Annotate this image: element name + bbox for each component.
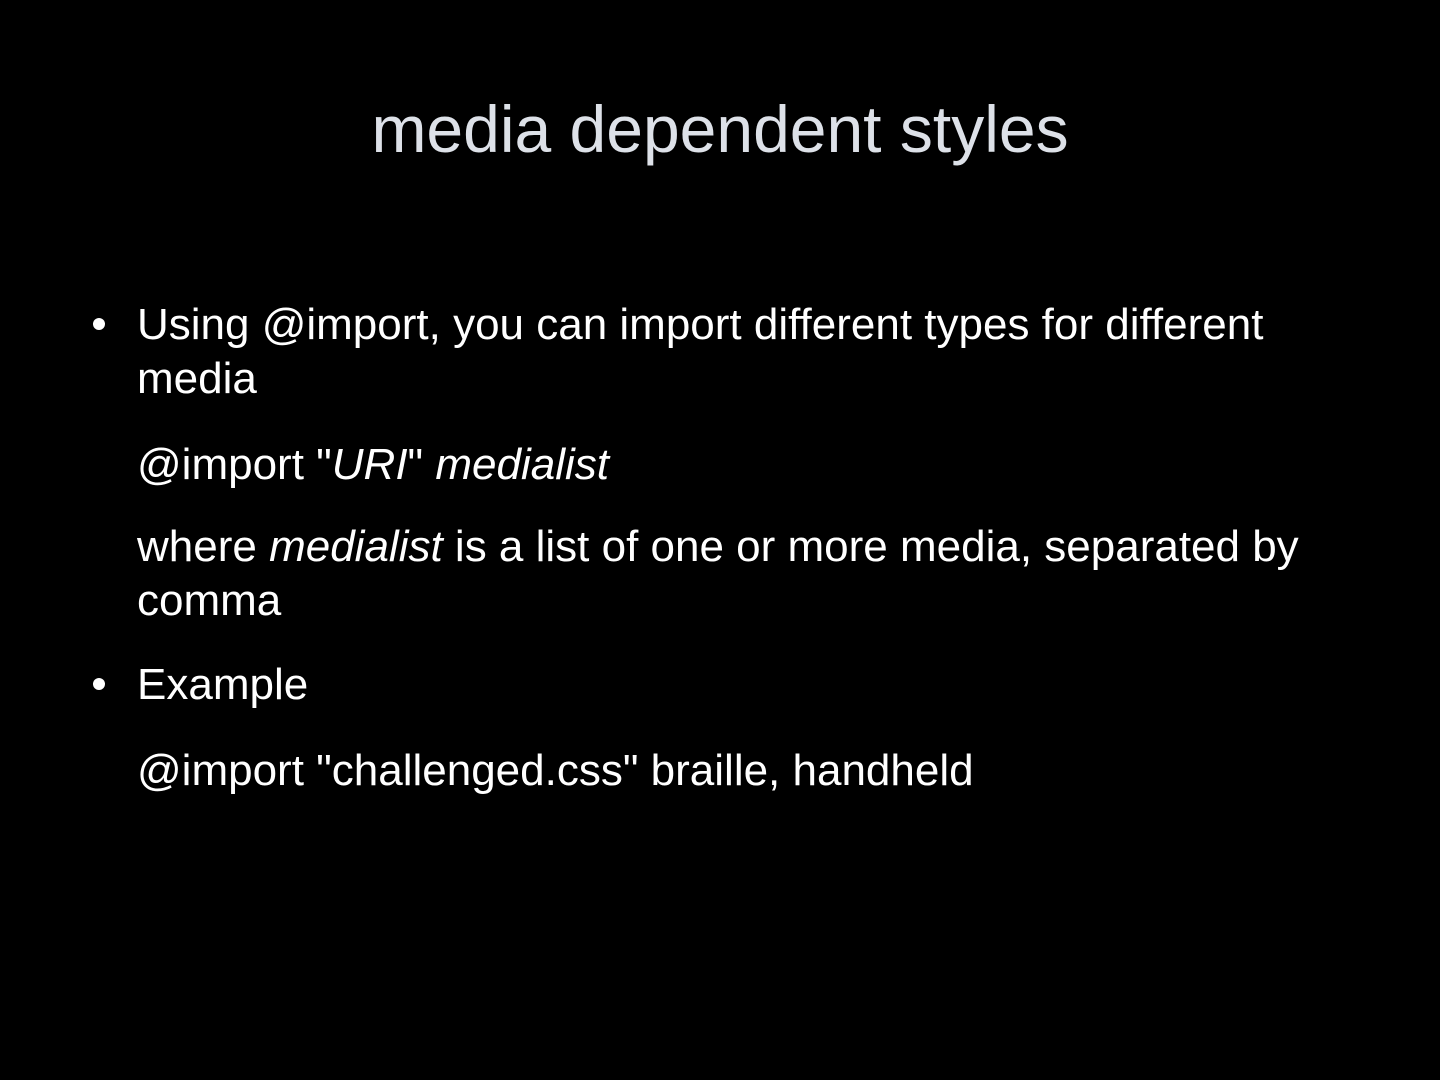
bullet-dot-icon	[93, 678, 105, 690]
bullet-item-example: Example	[88, 658, 1373, 712]
note-prefix: where	[137, 522, 269, 571]
code-text: @import "challenged.css" braille, handhe…	[137, 746, 974, 795]
spacer	[88, 492, 1373, 520]
spacer	[88, 406, 1373, 438]
code-line-import-uri: @import "URI" medialist	[88, 438, 1373, 492]
bullet-item-using-import: Using @import, you can import different …	[88, 298, 1373, 406]
code-line-import-challenged: @import "challenged.css" braille, handhe…	[88, 744, 1373, 798]
slide-body: Using @import, you can import different …	[88, 298, 1373, 798]
note-italic-medialist: medialist	[269, 522, 443, 571]
slide-canvas: media dependent styles Using @import, yo…	[0, 0, 1440, 1080]
bullet-dot-icon	[93, 318, 105, 330]
code-prefix: @import "	[137, 440, 332, 489]
bullet-item-label: Example	[137, 658, 1373, 712]
page-title: media dependent styles	[0, 96, 1440, 162]
spacer	[88, 628, 1373, 658]
code-italic-uri: URI	[332, 440, 408, 489]
note-line-medialist-definition: where medialist is a list of one or more…	[88, 520, 1373, 628]
code-middle: "	[408, 440, 436, 489]
bullet-item-label: Using @import, you can import different …	[137, 298, 1373, 406]
code-italic-medialist: medialist	[435, 440, 609, 489]
spacer	[88, 712, 1373, 744]
